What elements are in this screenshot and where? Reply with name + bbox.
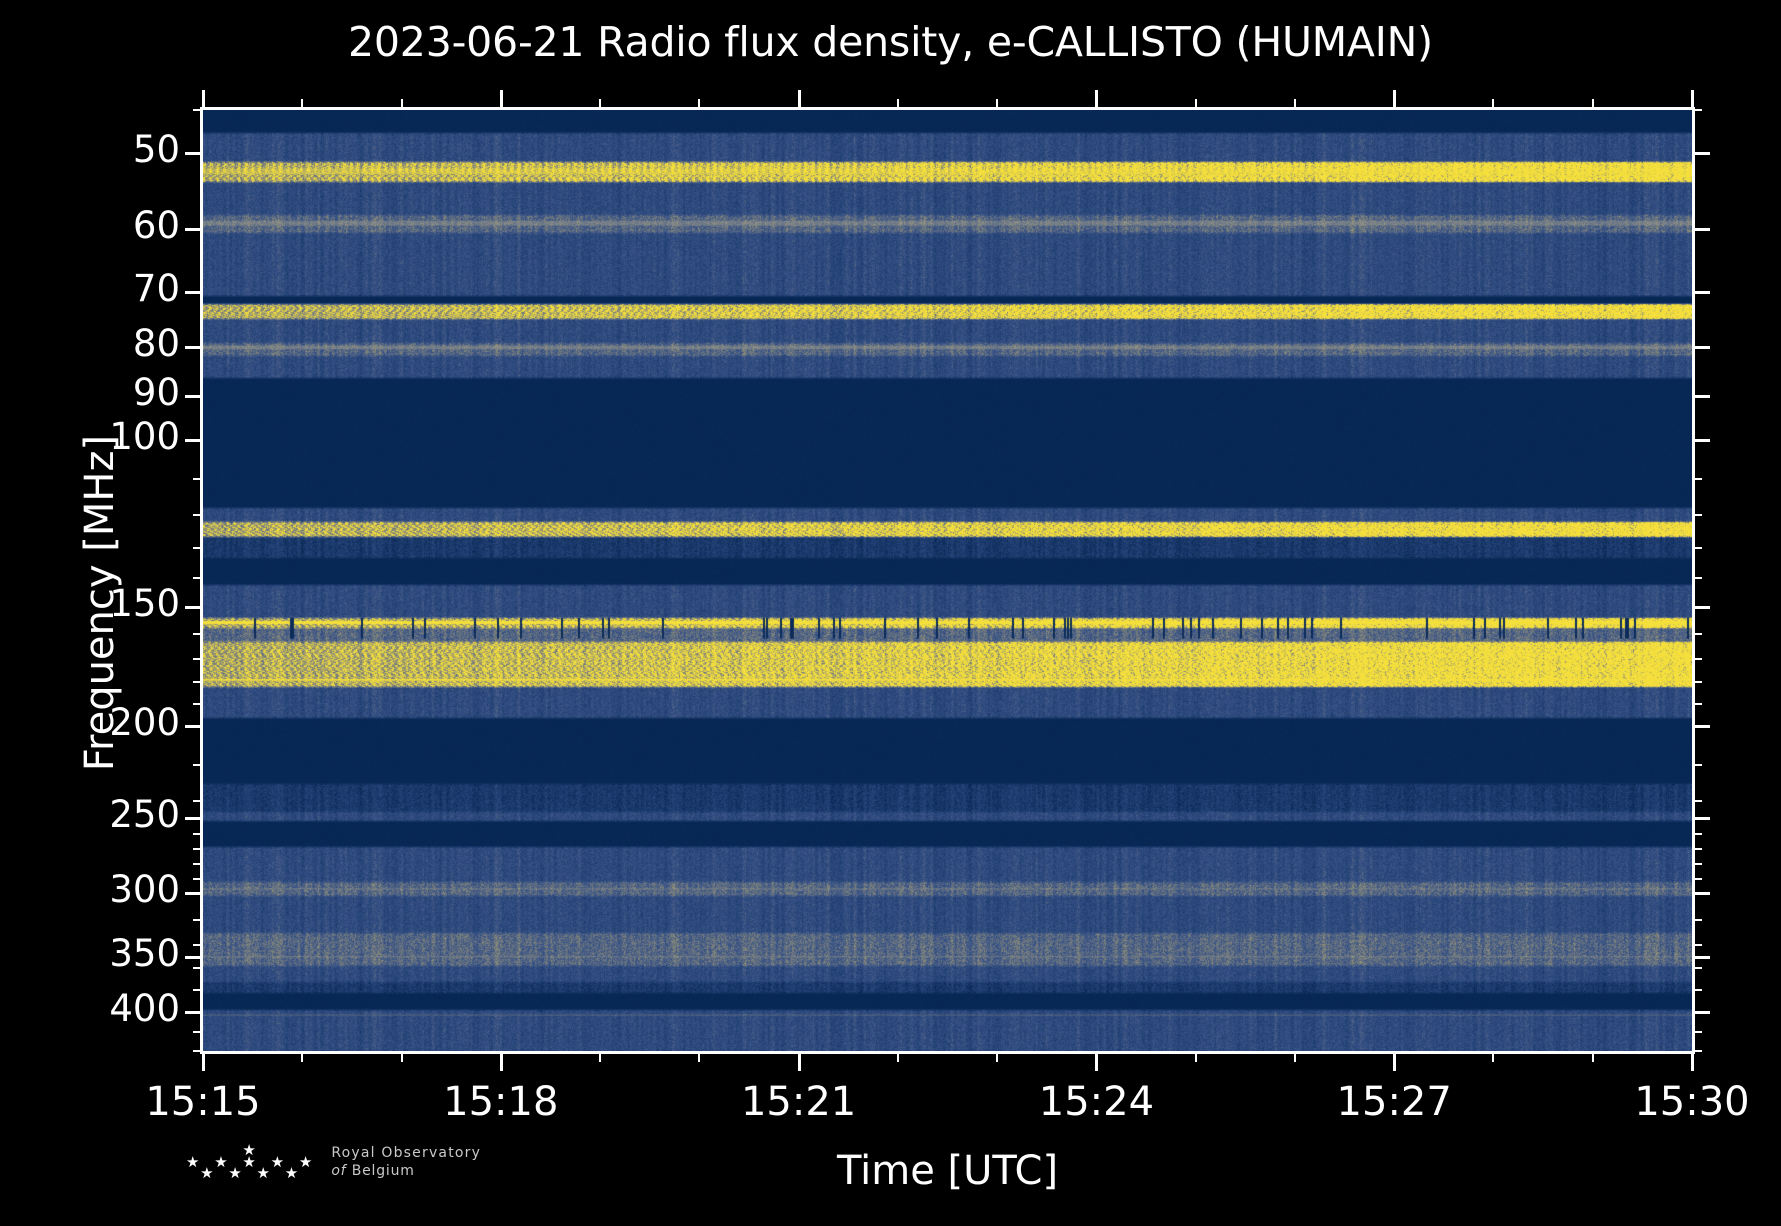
y-minor-tick-right xyxy=(1692,944,1702,946)
x-tick-mark-top xyxy=(1393,90,1396,110)
x-minor-tick-top xyxy=(1492,99,1494,110)
x-tick-mark-top xyxy=(1095,90,1098,110)
y-minor-tick-right xyxy=(1692,681,1702,683)
y-tick-mark xyxy=(185,817,203,820)
y-minor-tick xyxy=(193,967,203,969)
spectrogram-plot[interactable] xyxy=(203,110,1692,1051)
x-minor-tick xyxy=(1492,1051,1494,1062)
logo-stars-icon: ★ ★ ★ ★ ★ ★ ★ ★ ★ ★ xyxy=(186,1145,317,1180)
x-minor-tick-top xyxy=(698,99,700,110)
y-minor-tick-right xyxy=(1692,878,1702,880)
y-minor-tick-right xyxy=(1692,919,1702,921)
x-tick-label: 15:30 xyxy=(1572,1079,1781,1125)
y-tick-mark-right xyxy=(1692,956,1710,959)
axis-spine-left xyxy=(200,107,203,1054)
y-minor-tick xyxy=(193,658,203,660)
logo-line-royal-observatory: Royal Observatory xyxy=(331,1145,481,1163)
x-minor-tick xyxy=(599,1051,601,1062)
x-tick-mark xyxy=(202,1051,205,1071)
y-minor-tick-right xyxy=(1692,764,1702,766)
x-tick-mark xyxy=(1095,1051,1098,1071)
logo-text: Royal Observatory of Belgium xyxy=(331,1145,481,1180)
y-minor-tick xyxy=(193,989,203,991)
y-minor-tick xyxy=(193,703,203,705)
y-tick-mark xyxy=(185,291,203,294)
y-tick-mark xyxy=(185,725,203,728)
y-minor-tick-right xyxy=(1692,833,1702,835)
x-minor-tick-top xyxy=(1294,99,1296,110)
y-minor-tick-right xyxy=(1692,514,1702,516)
figure-canvas: 2023-06-21 Radio flux density, e-CALLIST… xyxy=(0,0,1781,1226)
y-minor-tick-right xyxy=(1692,848,1702,850)
y-minor-tick xyxy=(193,633,203,635)
page-title: 2023-06-21 Radio flux density, e-CALLIST… xyxy=(0,18,1781,66)
x-minor-tick-top xyxy=(301,99,303,110)
y-axis-label: Frequency [MHz] xyxy=(77,103,123,1103)
logo-of-word: of xyxy=(331,1163,346,1179)
x-minor-tick xyxy=(401,1051,403,1062)
x-tick-label: 15:21 xyxy=(679,1079,919,1125)
y-minor-tick xyxy=(193,833,203,835)
y-minor-tick-right xyxy=(1692,863,1702,865)
y-minor-tick-right xyxy=(1692,478,1702,480)
y-minor-tick xyxy=(193,1031,203,1033)
y-minor-tick xyxy=(193,514,203,516)
y-minor-tick xyxy=(193,478,203,480)
x-tick-mark-top xyxy=(798,90,801,110)
axis-spine-top xyxy=(200,107,1695,110)
y-tick-mark xyxy=(185,439,203,442)
y-tick-mark-right xyxy=(1692,291,1710,294)
y-minor-tick xyxy=(193,764,203,766)
y-minor-tick xyxy=(193,878,203,880)
x-tick-mark xyxy=(1393,1051,1396,1071)
x-tick-mark-top xyxy=(1691,90,1694,110)
y-tick-mark-right xyxy=(1692,1011,1710,1014)
x-tick-label: 15:27 xyxy=(1274,1079,1514,1125)
x-tick-mark xyxy=(1691,1051,1694,1071)
y-tick-mark-right xyxy=(1692,892,1710,895)
x-minor-tick xyxy=(996,1051,998,1062)
y-tick-mark xyxy=(185,152,203,155)
y-minor-tick xyxy=(193,577,203,579)
x-minor-tick-top xyxy=(897,99,899,110)
y-tick-mark xyxy=(185,228,203,231)
y-tick-mark xyxy=(185,395,203,398)
x-tick-mark-top xyxy=(202,90,205,110)
y-minor-tick-right xyxy=(1692,989,1702,991)
y-minor-tick-right xyxy=(1692,967,1702,969)
y-minor-tick-right xyxy=(1692,1031,1702,1033)
x-tick-label: 15:24 xyxy=(976,1079,1216,1125)
y-tick-mark xyxy=(185,956,203,959)
y-minor-tick-right xyxy=(1692,800,1702,802)
y-minor-tick xyxy=(193,848,203,850)
y-tick-mark xyxy=(185,892,203,895)
y-tick-mark-right xyxy=(1692,228,1710,231)
y-minor-tick xyxy=(193,800,203,802)
y-minor-tick-right xyxy=(1692,658,1702,660)
y-minor-tick xyxy=(193,863,203,865)
y-tick-mark xyxy=(185,1011,203,1014)
x-minor-tick xyxy=(1294,1051,1296,1062)
x-minor-tick xyxy=(301,1051,303,1062)
royal-observatory-logo: ★ ★ ★ ★ ★ ★ ★ ★ ★ ★ Royal Observatory of… xyxy=(186,1145,481,1180)
axis-spine-right xyxy=(1692,107,1695,1054)
y-minor-tick xyxy=(193,919,203,921)
spectrogram-image xyxy=(203,110,1692,1051)
x-minor-tick-top xyxy=(996,99,998,110)
logo-line-of-belgium: of Belgium xyxy=(331,1163,481,1181)
x-tick-mark xyxy=(798,1051,801,1071)
y-tick-mark-right xyxy=(1692,725,1710,728)
y-minor-tick xyxy=(193,944,203,946)
y-axis-label-wrap: Frequency [MHz] xyxy=(0,280,60,880)
y-tick-mark-right xyxy=(1692,395,1710,398)
y-minor-tick xyxy=(193,547,203,549)
y-tick-mark-right xyxy=(1692,346,1710,349)
y-tick-mark-right xyxy=(1692,152,1710,155)
y-minor-tick-right xyxy=(1692,547,1702,549)
x-minor-tick xyxy=(698,1051,700,1062)
y-tick-mark xyxy=(185,346,203,349)
x-minor-tick xyxy=(1195,1051,1197,1062)
x-minor-tick xyxy=(1592,1051,1594,1062)
y-tick-mark-right xyxy=(1692,606,1710,609)
y-tick-mark xyxy=(185,606,203,609)
x-minor-tick-top xyxy=(1195,99,1197,110)
y-minor-tick-right xyxy=(1692,633,1702,635)
x-tick-mark-top xyxy=(500,90,503,110)
logo-star-row-bottom: ★ ★ ★ ★ xyxy=(200,1168,303,1180)
x-minor-tick-top xyxy=(599,99,601,110)
x-minor-tick-top xyxy=(401,99,403,110)
axis-spine-bottom xyxy=(200,1051,1695,1054)
y-tick-mark-right xyxy=(1692,817,1710,820)
y-minor-tick xyxy=(193,681,203,683)
y-minor-tick-right xyxy=(1692,577,1702,579)
x-tick-mark xyxy=(500,1051,503,1071)
logo-belgium-word: Belgium xyxy=(352,1163,415,1179)
x-minor-tick-top xyxy=(1592,99,1594,110)
x-minor-tick xyxy=(897,1051,899,1062)
x-tick-label: 15:18 xyxy=(381,1079,621,1125)
y-minor-tick-right xyxy=(1692,703,1702,705)
y-tick-mark-right xyxy=(1692,439,1710,442)
